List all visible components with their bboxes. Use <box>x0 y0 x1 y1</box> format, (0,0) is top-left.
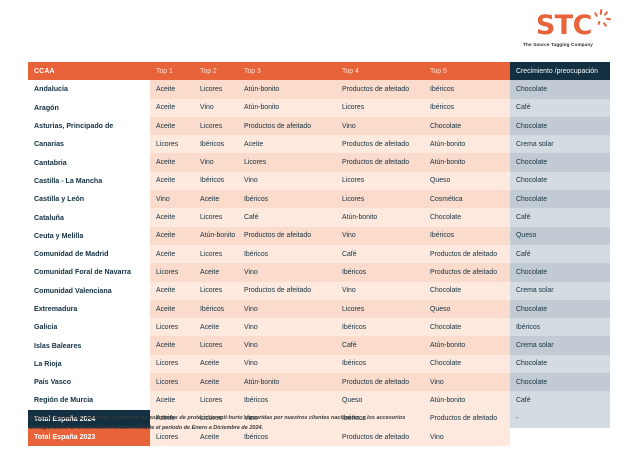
cell-top3: Vino <box>238 172 336 190</box>
cell-top4: Productos de afeitado <box>336 80 424 98</box>
column-header-top1: Top 1 <box>150 62 194 80</box>
cell-top2: Aceite <box>194 263 238 281</box>
table-row: Islas BalearesAceiteLicoresVinoCaféAtún-… <box>28 336 610 354</box>
cell-top3: Vino <box>238 336 336 354</box>
cell-top1: Licores <box>150 373 194 391</box>
cell-top5: Vino <box>424 373 510 391</box>
cell-top2: Licores <box>194 245 238 263</box>
cell-top3: Productos de afeitado <box>238 282 336 300</box>
cell-top5: Chocolate <box>424 318 510 336</box>
cell-crecimiento: Chocolate <box>510 80 610 98</box>
cell-crecimiento: Crema solar <box>510 135 610 153</box>
cell-top3: Vino <box>238 355 336 373</box>
cell-top5: Atún-bonito <box>424 135 510 153</box>
cell-top5: Productos de afeitado <box>424 263 510 281</box>
table-row: Castilla y LeónVinoAceiteIbéricosLicores… <box>28 190 610 208</box>
cell-ccaa: Extremadura <box>28 300 150 318</box>
footnote-line-1: Estos datos han sido extraídos a partir … <box>29 414 529 424</box>
cell-ccaa: Comunidad de Madrid <box>28 245 150 263</box>
cell-crecimiento: Ibéricos <box>510 318 610 336</box>
cell-top5: Chocolate <box>424 355 510 373</box>
cell-top3: Vino <box>238 263 336 281</box>
column-header-top4: Top 4 <box>336 62 424 80</box>
cell-ccaa: Región de Murcia <box>28 391 150 409</box>
table-row: Comunidad ValencianaAceiteLicoresProduct… <box>28 282 610 300</box>
cell-ccaa: Canarias <box>28 135 150 153</box>
cell-top4: Vino <box>336 117 424 135</box>
cell-top4: Productos de afeitado <box>336 373 424 391</box>
cell-top3: Vino <box>238 318 336 336</box>
cell-ccaa: Comunidad Valenciana <box>28 282 150 300</box>
table-row: CanariasLicoresIbéricosAceiteProductos d… <box>28 135 610 153</box>
cell-top1: Licores <box>150 135 194 153</box>
cell-top5: Productos de afeitado <box>424 245 510 263</box>
cell-top5: Ibéricos <box>424 99 510 117</box>
table-row: CataluñaAceiteLicoresCaféAtún-bonitoChoc… <box>28 208 610 226</box>
cell-crecimiento: Café <box>510 391 610 409</box>
cell-top2: Licores <box>194 117 238 135</box>
cell-top5: Queso <box>424 172 510 190</box>
cell-top2: Ibéricos <box>194 172 238 190</box>
cell-top1: Aceite <box>150 99 194 117</box>
table-row: ExtremaduraAceiteIbéricosVinoLicoresQues… <box>28 300 610 318</box>
cell-top1: Aceite <box>150 245 194 263</box>
table-row: País VascoLicoresAceiteAtún-bonitoProduc… <box>28 373 610 391</box>
cell-top3: Atún-bonito <box>238 99 336 117</box>
cell-top2: Aceite <box>194 373 238 391</box>
cell-top1: Aceite <box>150 153 194 171</box>
sparkle-icon <box>593 9 610 31</box>
column-header-top5: Top 5 <box>424 62 510 80</box>
cell-crecimiento: Chocolate <box>510 117 610 135</box>
cell-top2: Licores <box>194 282 238 300</box>
cell-crecimiento: Chocolate <box>510 300 610 318</box>
stc-logo: STC The Source Tagging Company <box>498 12 610 47</box>
table-row: AndalucíaAceiteLicoresAtún-bonitoProduct… <box>28 80 610 98</box>
cell-top1: Licores <box>150 318 194 336</box>
cell-top1: Aceite <box>150 208 194 226</box>
table-row: Comunidad de MadridAceiteLicoresIbéricos… <box>28 245 610 263</box>
cell-top2: Licores <box>194 208 238 226</box>
cell-top4: Vino <box>336 282 424 300</box>
cell-top4: Café <box>336 245 424 263</box>
cell-ccaa: Asturias, Principado de <box>28 117 150 135</box>
cell-top3: Aceite <box>238 135 336 153</box>
cell-top4: Queso <box>336 391 424 409</box>
cell-crecimiento: Chocolate <box>510 153 610 171</box>
cell-top5: Cosmética <box>424 190 510 208</box>
cell-top2: Aceite <box>194 190 238 208</box>
cell-ccaa: Islas Baleares <box>28 336 150 354</box>
cell-top5: Queso <box>424 300 510 318</box>
cell-top3: Atún-bonito <box>238 80 336 98</box>
cell-top5: Ibéricos <box>424 227 510 245</box>
cell-crecimiento: Café <box>510 245 610 263</box>
cell-top4: Atún-bonito <box>336 208 424 226</box>
cell-ccaa: Castilla y León <box>28 190 150 208</box>
cell-top1: Licores <box>150 355 194 373</box>
cell-ccaa: Comunidad Foral de Navarra <box>28 263 150 281</box>
footnote: Estos datos han sido extraídos a partir … <box>29 414 529 433</box>
cell-top4: Vino <box>336 227 424 245</box>
cell-top3: Productos de afeitado <box>238 117 336 135</box>
cell-top2: Ibéricos <box>194 300 238 318</box>
cell-top3: Vino <box>238 300 336 318</box>
cell-ccaa: Aragón <box>28 99 150 117</box>
cell-top3: Licores <box>238 153 336 171</box>
cell-top1: Aceite <box>150 172 194 190</box>
cell-top3: Café <box>238 208 336 226</box>
cell-top2: Aceite <box>194 355 238 373</box>
cell-top5: Chocolate <box>424 117 510 135</box>
cell-top4: Licores <box>336 300 424 318</box>
cell-top1: Aceite <box>150 336 194 354</box>
column-header-top2: Top 2 <box>194 62 238 80</box>
cell-top1: Aceite <box>150 117 194 135</box>
logo-wordmark: STC <box>536 12 592 39</box>
cell-top4: Productos de afeitado <box>336 135 424 153</box>
cell-top2: Aceite <box>194 318 238 336</box>
ccaa-top-products-table: CCAA Top 1 Top 2 Top 3 Top 4 Top 5 Creci… <box>28 62 610 446</box>
cell-top1: Aceite <box>150 391 194 409</box>
cell-ccaa: País Vasco <box>28 373 150 391</box>
cell-top1: Vino <box>150 190 194 208</box>
table-header: CCAA Top 1 Top 2 Top 3 Top 4 Top 5 Creci… <box>28 62 610 80</box>
cell-crecimiento: Café <box>510 99 610 117</box>
cell-top2: Atún-bonito <box>194 227 238 245</box>
cell-ccaa: Andalucía <box>28 80 150 98</box>
cell-top5: Ibéricos <box>424 80 510 98</box>
logo-row: STC <box>498 12 610 39</box>
cell-top3: Atún-bonito <box>238 373 336 391</box>
cell-top4: Ibéricos <box>336 263 424 281</box>
cell-crecimiento: Queso <box>510 227 610 245</box>
cell-top5: Atún-bonito <box>424 153 510 171</box>
cell-top4: Café <box>336 336 424 354</box>
cell-top1: Aceite <box>150 282 194 300</box>
cell-crecimiento: Chocolate <box>510 172 610 190</box>
report-page: STC The Source Tagging Company CCAA Top … <box>0 0 637 450</box>
cell-top3: Ibéricos <box>238 190 336 208</box>
table-row: Castilla - La ManchaAceiteIbéricosVinoLi… <box>28 172 610 190</box>
logo-tagline: The Source Tagging Company <box>498 42 610 47</box>
cell-crecimiento: Chocolate <box>510 263 610 281</box>
cell-top4: Productos de afeitado <box>336 153 424 171</box>
column-header-ccaa: CCAA <box>28 62 150 80</box>
cell-top1: Aceite <box>150 300 194 318</box>
cell-top1: Licores <box>150 263 194 281</box>
cell-top4: Ibéricos <box>336 318 424 336</box>
cell-crecimiento: Chocolate <box>510 373 610 391</box>
cell-top3: Ibéricos <box>238 391 336 409</box>
table-row: Ceuta y MelillaAceiteAtún-bonitoProducto… <box>28 227 610 245</box>
cell-ccaa: Cataluña <box>28 208 150 226</box>
cell-top5: Chocolate <box>424 282 510 300</box>
cell-top4: Ibéricos <box>336 355 424 373</box>
cell-ccaa: Ceuta y Melilla <box>28 227 150 245</box>
cell-ccaa: Cantabria <box>28 153 150 171</box>
cell-crecimiento: Café <box>510 208 610 226</box>
cell-top2: Vino <box>194 99 238 117</box>
column-header-crecimiento: Crecimiento /preocupación <box>510 62 610 80</box>
cell-top2: Licores <box>194 336 238 354</box>
table-row: CantabriaAceiteVinoLicoresProductos de a… <box>28 153 610 171</box>
column-header-top3: Top 3 <box>238 62 336 80</box>
cell-top4: Licores <box>336 99 424 117</box>
table-row: La RiojaLicoresAceiteVinoIbéricosChocola… <box>28 355 610 373</box>
cell-top2: Licores <box>194 80 238 98</box>
cell-crecimiento: Crema solar <box>510 282 610 300</box>
table-row: AragónAceiteVinoAtún-bonitoLicoresIbéric… <box>28 99 610 117</box>
cell-crecimiento: Chocolate <box>510 355 610 373</box>
cell-crecimiento: Chocolate <box>510 190 610 208</box>
cell-top2: Licores <box>194 391 238 409</box>
cell-crecimiento: Crema solar <box>510 336 610 354</box>
cell-ccaa: Castilla - La Mancha <box>28 172 150 190</box>
table-row: Asturias, Principado deAceiteLicoresProd… <box>28 117 610 135</box>
cell-top5: Atún-bonito <box>424 336 510 354</box>
cell-top3: Ibéricos <box>238 245 336 263</box>
cell-top1: Aceite <box>150 227 194 245</box>
cell-top5: Chocolate <box>424 208 510 226</box>
cell-top4: Licores <box>336 190 424 208</box>
table-row: Comunidad Foral de NavarraLicoresAceiteV… <box>28 263 610 281</box>
table-body: AndalucíaAceiteLicoresAtún-bonitoProduct… <box>28 80 610 446</box>
cell-ccaa: La Rioja <box>28 355 150 373</box>
table-header-row: CCAA Top 1 Top 2 Top 3 Top 4 Top 5 Creci… <box>28 62 610 80</box>
table-row: Región de MurciaAceiteLicoresIbéricosQue… <box>28 391 610 409</box>
cell-top2: Vino <box>194 153 238 171</box>
footnote-line-2: de seguridad a tal efecto suministrados … <box>29 424 529 434</box>
cell-top3: Productos de afeitado <box>238 227 336 245</box>
cell-top1: Aceite <box>150 80 194 98</box>
cell-top2: Ibéricos <box>194 135 238 153</box>
cell-ccaa: Galicia <box>28 318 150 336</box>
cell-top4: Licores <box>336 172 424 190</box>
cell-top5: Atún-bonito <box>424 391 510 409</box>
table-row: GaliciaLicoresAceiteVinoIbéricosChocolat… <box>28 318 610 336</box>
